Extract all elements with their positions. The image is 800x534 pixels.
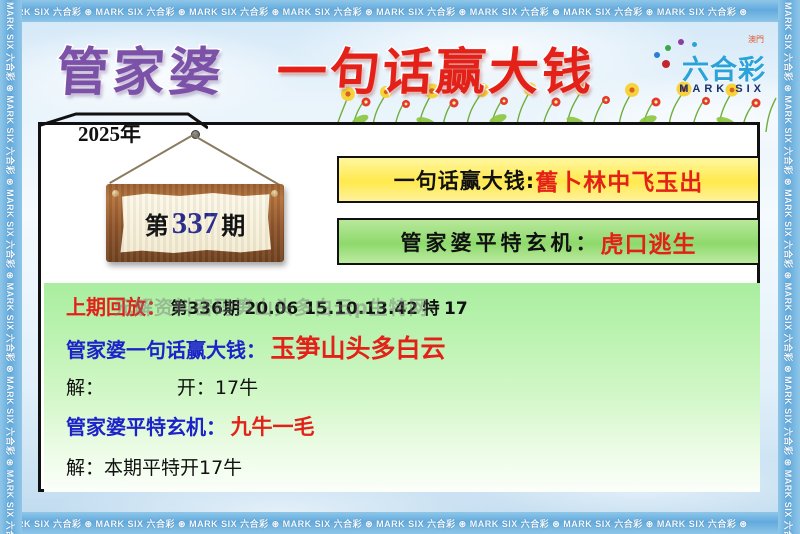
draw-issue: 第336期 — [170, 299, 240, 319]
frame-border-top: MARK SIX 六合彩 ⊛ MARK SIX 六合彩 ⊛ MARK SIX 六… — [0, 0, 800, 22]
frame-border-bottom: MARK SIX 六合彩 ⊛ MARK SIX 六合彩 ⊛ MARK SIX 六… — [0, 512, 800, 534]
frame-border-right: MARK SIX 六合彩 ⊛ MARK SIX 六合彩 ⊛ MARK SIX 六… — [778, 0, 800, 534]
year-label: 2025年 — [78, 118, 141, 148]
review-secret-row: 管家婆平特玄机： 九牛一毛 — [66, 411, 314, 441]
answer1-value: 开：17牛 — [177, 377, 258, 399]
banner-label: 管家婆平特玄机： — [401, 227, 601, 257]
banner-value: 舊卜林中飞玉出 — [535, 163, 703, 197]
banner-label: 一句话赢大钱: — [394, 165, 535, 195]
banner-value: 虎口逃生 — [601, 225, 697, 259]
issue-prefix: 第 — [145, 206, 169, 241]
logo-dot-green — [665, 45, 671, 51]
logo-region-label: 澳門 — [748, 34, 764, 45]
plaque-peg-right — [271, 190, 278, 197]
review-heading: 上期回放： — [66, 295, 166, 319]
phrase-label: 管家婆一句话赢大钱： — [66, 338, 266, 362]
page-title: 管家婆 — [54, 30, 227, 105]
draw-numbers: 20.06 15.10.13.42 — [244, 299, 418, 319]
banner-secret-tip: 管家婆平特玄机： 虎口逃生 — [337, 218, 760, 265]
phrase-value: 玉笋山头多白云 — [270, 334, 445, 363]
secret-value: 九牛一毛 — [230, 415, 314, 439]
border-pattern-text: MARK SIX 六合彩 ⊛ MARK SIX 六合彩 ⊛ MARK SIX 六… — [0, 5, 747, 18]
mark-six-logo: 澳門 六合彩 MARK SIX — [648, 34, 768, 96]
logo-dot-red — [662, 60, 670, 68]
review-answer2-row: 解：本期平特开17牛 — [66, 453, 242, 480]
plaque-peg-left — [112, 190, 119, 197]
lottery-poster: MARK SIX 六合彩 ⊛ MARK SIX 六合彩 ⊛ MARK SIX 六… — [0, 0, 800, 534]
highlight-banners: 一句话赢大钱: 舊卜林中飞玉出 管家婆平特玄机： 虎口逃生 — [337, 128, 760, 280]
answer1-label: 解： — [66, 377, 104, 399]
logo-name-en: MARK SIX — [679, 83, 765, 95]
previous-results-panel: 元解资料密码笋山头多白云p生特网 上期回放： 第336期 20.06 15.10… — [44, 283, 760, 492]
frame-border-left: MARK SIX 六合彩 ⊛ MARK SIX 六合彩 ⊛ MARK SIX 六… — [0, 0, 22, 534]
logo-name-cn: 六合彩 — [682, 48, 766, 87]
answer2-text: 解：本期平特开17牛 — [66, 457, 242, 479]
page-subtitle: 一句话赢大钱 — [274, 32, 597, 104]
banner-phrase-win: 一句话赢大钱: 舊卜林中飞玉出 — [337, 156, 760, 203]
border-pattern-text: MARK SIX 六合彩 ⊛ MARK SIX 六合彩 ⊛ MARK SIX 六… — [783, 0, 796, 534]
issue-suffix: 期 — [221, 206, 245, 241]
main-content-card: 第 337 期 一句话赢大钱: 舊卜林中飞玉出 管家婆平特玄机： 虎口逃生 元解… — [38, 122, 760, 492]
logo-dot-cyan — [692, 42, 697, 47]
review-draw-row: 上期回放： 第336期 20.06 15.10.13.42 特 17 — [66, 291, 468, 320]
logo-dot-purple — [678, 39, 684, 45]
review-phrase-row: 管家婆一句话赢大钱： 玉笋山头多白云 — [66, 329, 445, 365]
issue-number: 337 — [172, 205, 219, 241]
issue-plaque: 第 337 期 — [106, 184, 284, 262]
issue-paper-label: 第 337 期 — [119, 193, 271, 253]
special-number: 17 — [444, 299, 468, 319]
review-answer1-row: 解： 开：17牛 — [66, 373, 258, 400]
border-pattern-text: MARK SIX 六合彩 ⊛ MARK SIX 六合彩 ⊛ MARK SIX 六… — [0, 517, 747, 530]
logo-dot-blue — [654, 52, 660, 58]
issue-plaque-area: 第 337 期 — [44, 128, 334, 280]
border-pattern-text: MARK SIX 六合彩 ⊛ MARK SIX 六合彩 ⊛ MARK SIX 六… — [5, 0, 18, 534]
secret-label: 管家婆平特玄机： — [66, 415, 226, 439]
special-label: 特 — [423, 299, 440, 319]
